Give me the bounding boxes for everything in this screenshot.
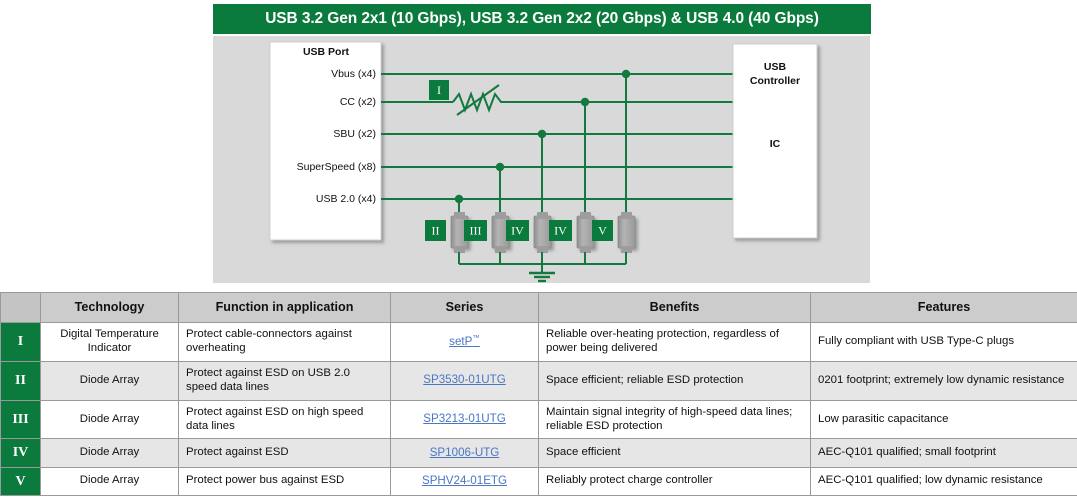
cell-function: Protect against ESD [179,439,391,467]
table-header-row: Technology Function in application Serie… [1,293,1077,323]
pin-label-usb20: USB 2.0 (x4) [316,193,376,205]
dot-vbus [622,70,630,78]
table-row: I Digital Temperature Indicator Protect … [1,323,1077,362]
cell-series[interactable]: SP1006-UTG [391,439,539,467]
protection-devices: II III IV [425,212,635,253]
cell-technology: Diode Array [41,439,179,467]
header-technology: Technology [41,293,179,323]
row-index-I: I [1,323,41,362]
header-function: Function in application [179,293,391,323]
usb-controller-box: USB Controller IC [733,44,817,238]
device-III: III [464,212,509,253]
row-index-V: V [1,467,41,495]
header-benefits: Benefits [539,293,811,323]
dot-superspeed [496,163,504,171]
cell-function: Protect power bus against ESD [179,467,391,495]
cell-features: Fully compliant with USB Type-C plugs [811,323,1077,362]
marker-I: I [429,80,449,100]
cell-benefits: Reliable over-heating protection, regard… [539,323,811,362]
trademark-symbol: ™ [472,334,480,343]
ground-symbol [529,273,555,281]
cell-series[interactable]: SPHV24-01ETG [391,467,539,495]
dot-cc [581,98,589,106]
table-row: IV Diode Array Protect against ESD SP100… [1,439,1077,467]
series-link-text: setP [449,335,472,348]
row-index-III: III [1,400,41,439]
marker-I-label: I [437,83,441,97]
device-V: V [592,212,635,253]
dot-usb20 [455,195,463,203]
cell-function: Protect cable-connectors against overhea… [179,323,391,362]
controller-title-line2: Controller [750,75,800,87]
table-row: II Diode Array Protect against ESD on US… [1,361,1077,400]
usb-port-title: USB Port [303,46,350,58]
row-index-IV: IV [1,439,41,467]
circuit-diagram-panel: USB Port Vbus (x4) CC (x2) SBU (x2) Supe… [213,36,870,283]
cell-technology: Diode Array [41,467,179,495]
series-link-sp3213[interactable]: SP3213-01UTG [423,412,506,425]
cell-function: Protect against ESD on high speed data l… [179,400,391,439]
device-IV-a-label: IV [511,223,524,237]
controller-title-line1: USB [764,61,787,73]
series-link-sp1006[interactable]: SP1006-UTG [430,446,500,459]
cell-features: Low parasitic capacitance [811,400,1077,439]
series-link-sphv24[interactable]: SPHV24-01ETG [422,474,507,487]
cell-series[interactable]: SP3213-01UTG [391,400,539,439]
cell-technology: Diode Array [41,400,179,439]
table-row: V Diode Array Protect power bus against … [1,467,1077,495]
page-root: USB 3.2 Gen 2x1 (10 Gbps), USB 3.2 Gen 2… [0,0,1077,497]
table-row: III Diode Array Protect against ESD on h… [1,400,1077,439]
device-II: II [425,212,468,253]
cell-features: 0201 footprint; extremely low dynamic re… [811,361,1077,400]
cell-technology: Digital Temperature Indicator [41,323,179,362]
device-IV-b-label: IV [554,223,567,237]
cell-series[interactable]: SP3530-01UTG [391,361,539,400]
pin-label-superspeed: SuperSpeed (x8) [297,161,376,173]
cell-benefits: Reliably protect charge controller [539,467,811,495]
header-index [1,293,41,323]
device-II-label: II [432,223,440,237]
device-V-label: V [598,223,607,237]
cell-technology: Diode Array [41,361,179,400]
pin-label-cc: CC (x2) [340,96,376,108]
device-IV-a: IV [506,212,551,253]
cell-series[interactable]: setP™ [391,323,539,362]
device-III-label: III [470,223,482,237]
dot-sbu [538,130,546,138]
banner-title: USB 3.2 Gen 2x1 (10 Gbps), USB 3.2 Gen 2… [213,4,871,34]
cell-function: Protect against ESD on USB 2.0 speed dat… [179,361,391,400]
header-features: Features [811,293,1077,323]
header-series: Series [391,293,539,323]
cell-benefits: Space efficient; reliable ESD protection [539,361,811,400]
device-IV-b: IV [549,212,594,253]
thermistor-symbol [453,85,508,115]
controller-ic-label: IC [770,138,781,150]
ground-bus [459,252,626,273]
row-index-II: II [1,361,41,400]
cell-benefits: Maintain signal integrity of high-speed … [539,400,811,439]
cell-features: AEC-Q101 qualified; low dynamic resistan… [811,467,1077,495]
cell-benefits: Space efficient [539,439,811,467]
pin-label-sbu: SBU (x2) [333,128,376,140]
cell-features: AEC-Q101 qualified; small footprint [811,439,1077,467]
series-link-setp[interactable]: setP™ [449,335,480,348]
specification-table: Technology Function in application Serie… [0,292,1077,496]
pin-label-vbus: Vbus (x4) [331,68,376,80]
series-link-sp3530[interactable]: SP3530-01UTG [423,373,506,386]
